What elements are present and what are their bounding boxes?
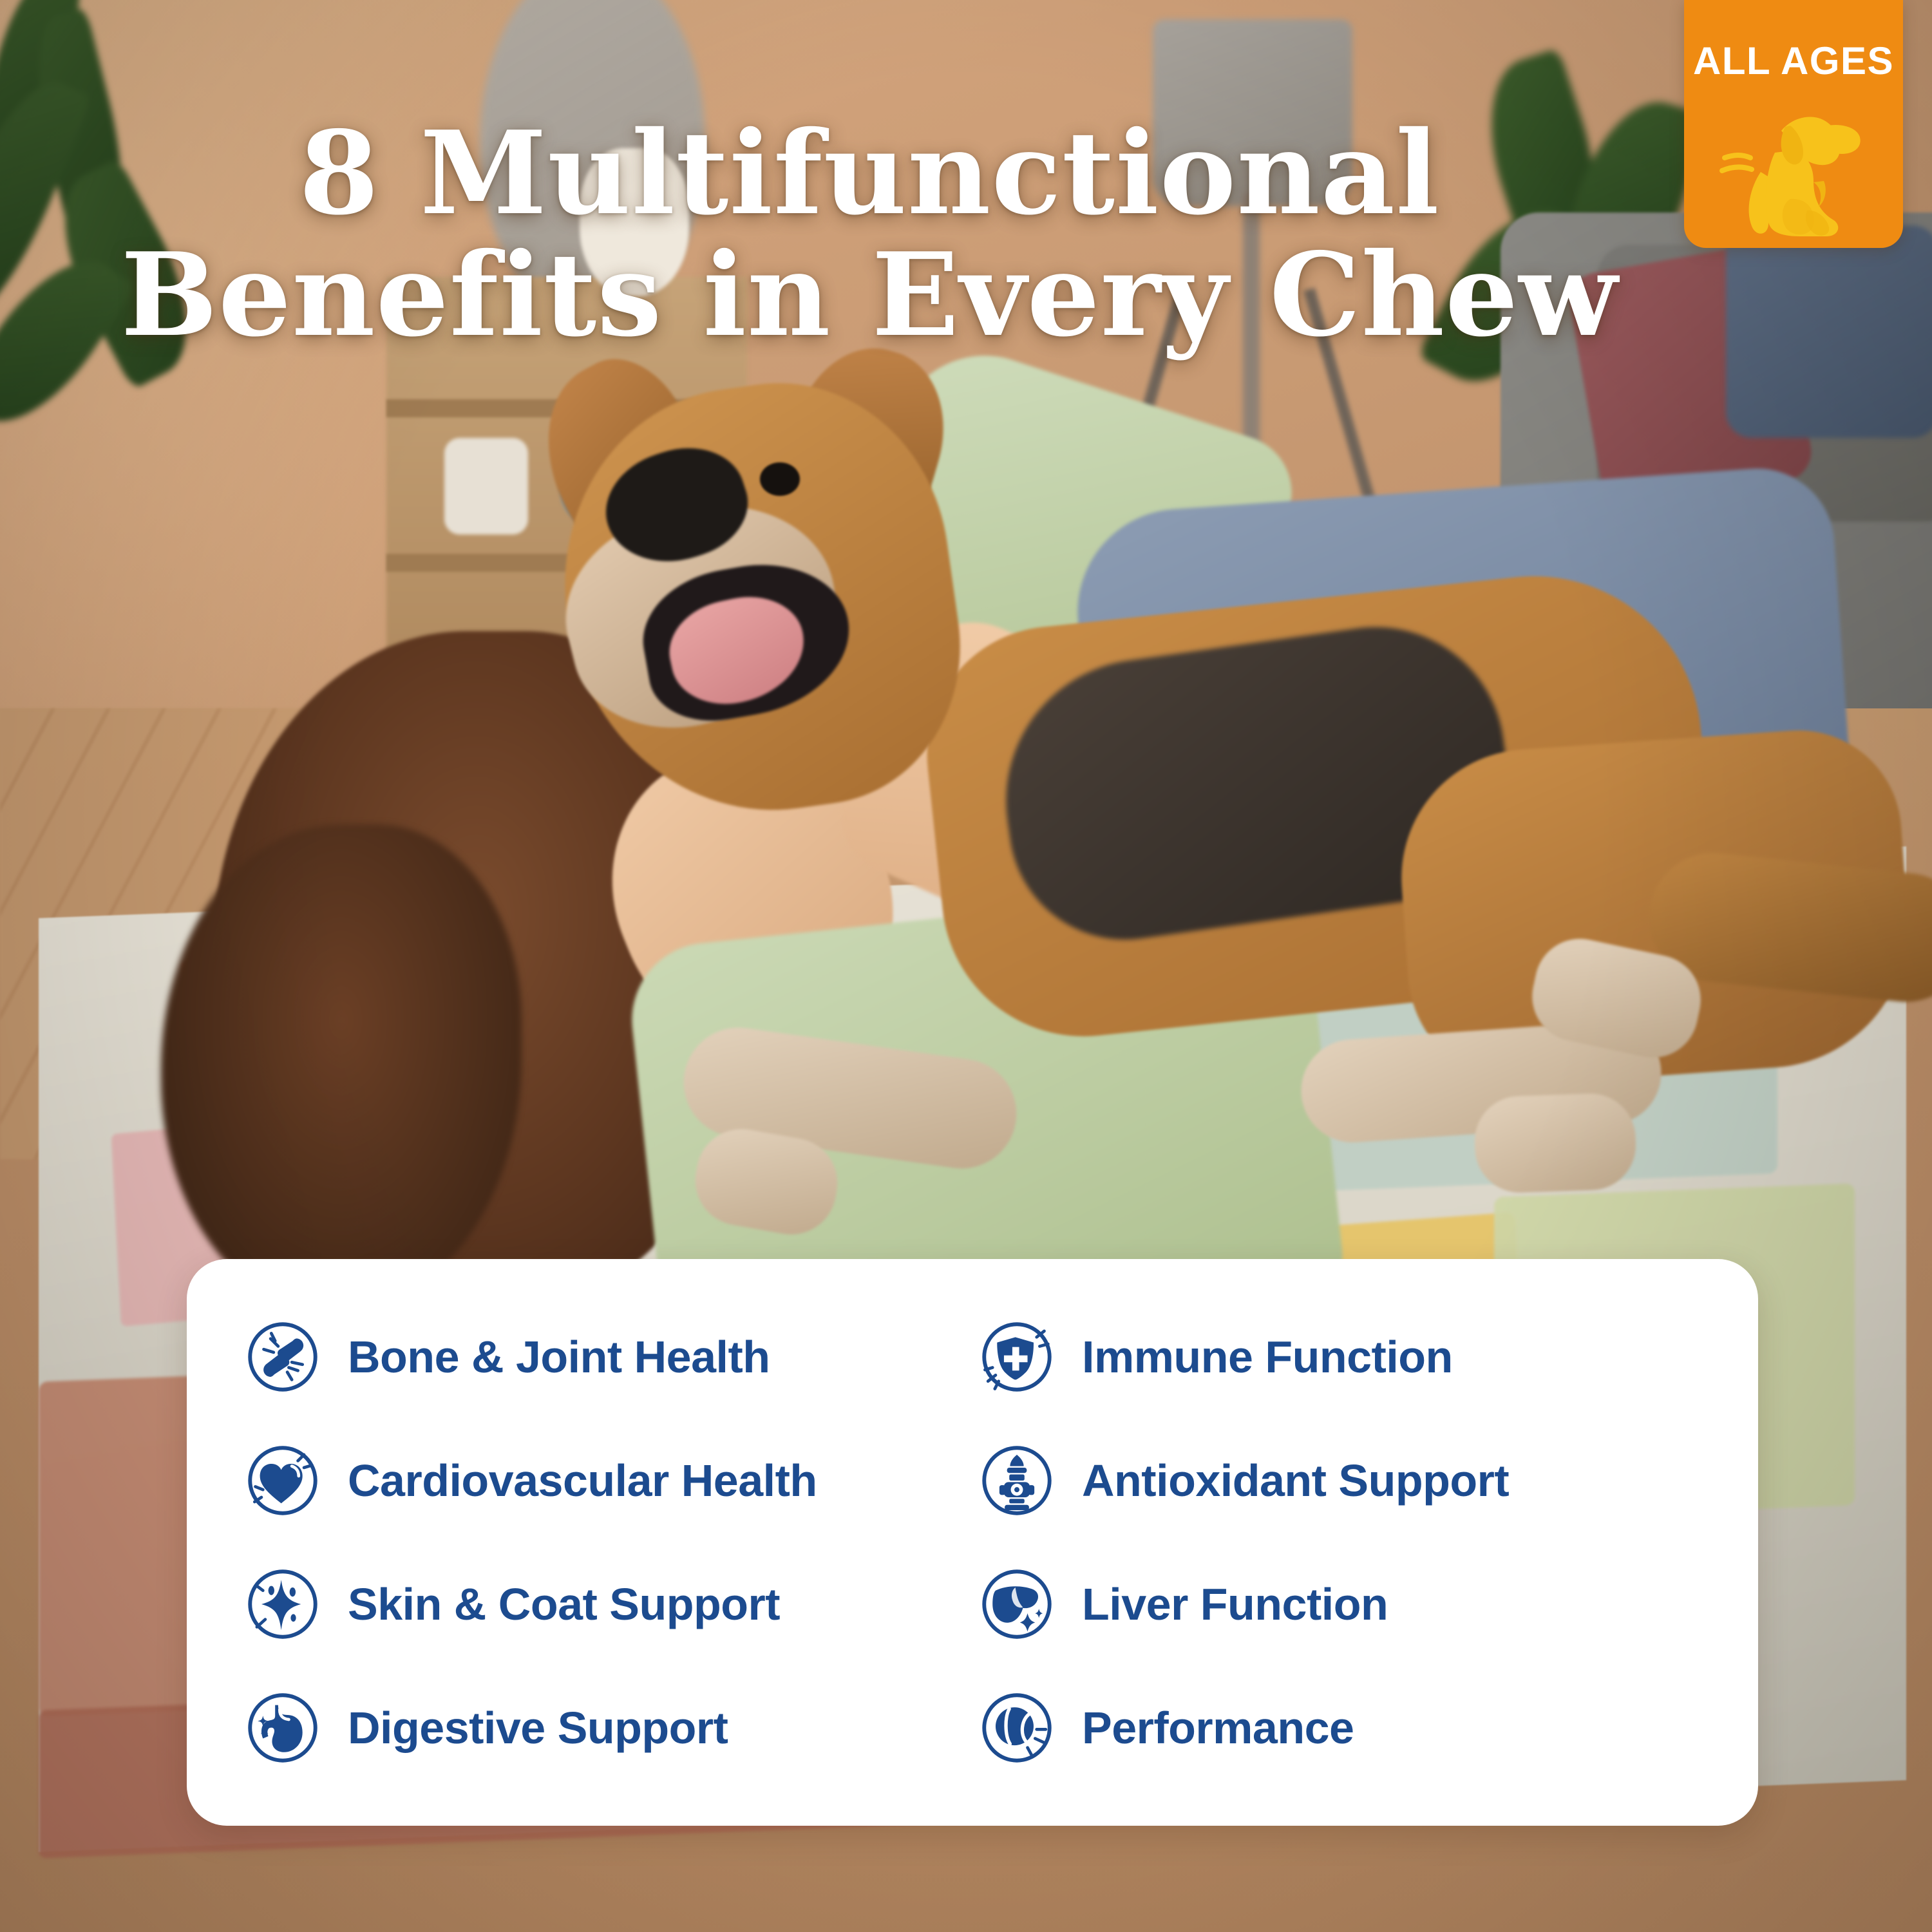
sitting-dog-icon: [1713, 91, 1874, 239]
benefit-label: Bone & Joint Health: [348, 1331, 770, 1383]
tennis-ball-icon: [979, 1690, 1055, 1766]
liver-icon: [979, 1566, 1055, 1642]
benefit-label: Antioxidant Support: [1082, 1455, 1509, 1506]
heart-icon: [245, 1443, 321, 1519]
benefit-cardiovascular-health[interactable]: Cardiovascular Health: [245, 1419, 979, 1542]
benefits-grid: Bone & Joint Health Immune Funct: [187, 1259, 1758, 1826]
bone-joint-icon: [245, 1319, 321, 1395]
benefit-label: Liver Function: [1082, 1578, 1388, 1630]
sparkle-shine-icon: [245, 1566, 321, 1642]
benefits-card: Bone & Joint Health Immune Funct: [187, 1259, 1758, 1826]
benefit-label: Cardiovascular Health: [348, 1455, 817, 1506]
stomach-icon: [245, 1690, 321, 1766]
all-ages-label: ALL AGES: [1693, 39, 1894, 83]
benefit-label: Digestive Support: [348, 1702, 728, 1754]
promo-poster: 8 Multifunctional Benefits in Every Chew…: [0, 0, 1932, 1932]
benefit-bone-joint-health[interactable]: Bone & Joint Health: [245, 1295, 979, 1419]
fire-hydrant-icon: [979, 1443, 1055, 1519]
benefit-label: Immune Function: [1082, 1331, 1453, 1383]
benefit-liver-function[interactable]: Liver Function: [979, 1542, 1713, 1666]
headline-line-1: 8 Multifunctional: [299, 106, 1439, 240]
benefit-skin-coat-support[interactable]: Skin & Coat Support: [245, 1542, 979, 1666]
benefit-immune-function[interactable]: Immune Function: [979, 1295, 1713, 1419]
benefit-label: Skin & Coat Support: [348, 1578, 780, 1630]
benefit-antioxidant-support[interactable]: Antioxidant Support: [979, 1419, 1713, 1542]
headline: 8 Multifunctional Benefits in Every Chew: [0, 113, 1739, 355]
benefit-label: Performance: [1082, 1702, 1354, 1754]
benefit-performance[interactable]: Performance: [979, 1666, 1713, 1790]
benefit-digestive-support[interactable]: Digestive Support: [245, 1666, 979, 1790]
all-ages-badge: ALL AGES: [1684, 0, 1903, 248]
shield-plus-icon: [979, 1319, 1055, 1395]
headline-line-2: Benefits in Every Chew: [0, 234, 1739, 356]
